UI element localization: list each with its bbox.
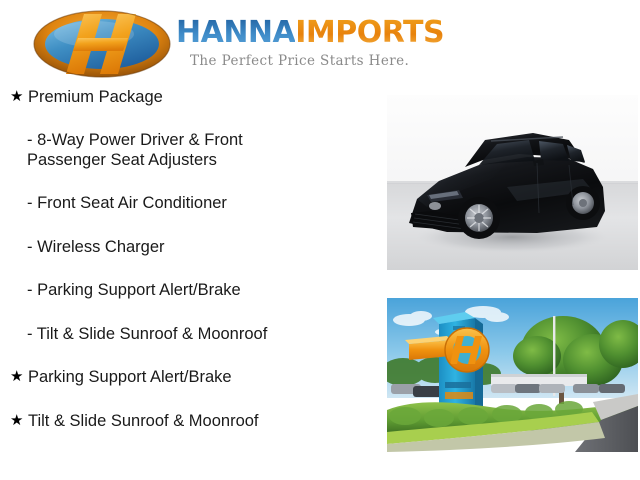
list-item: - Wireless Charger (0, 238, 370, 257)
feature-label: Premium Package (28, 88, 370, 107)
feature-label: Tilt & Slide Sunroof & Moonroof (28, 412, 370, 431)
brand-wordmark-block: HANNAIMPORTS The Perfect Price Starts He… (176, 8, 444, 69)
list-item: - Front Seat Air Conditioner (0, 194, 370, 213)
list-item: ★ Premium Package (0, 88, 370, 107)
slide-canvas: HANNAIMPORTS The Perfect Price Starts He… (0, 0, 640, 480)
list-item: - Tilt & Slide Sunroof & Moonroof (0, 325, 370, 344)
list-item: - 8-Way Power Driver & Front Passenger S… (0, 131, 370, 170)
star-bullet-icon: ★ (10, 88, 28, 107)
feature-label: - Front Seat Air Conditioner (27, 194, 370, 213)
wordmark-imports: IMPORTS (295, 15, 444, 50)
feature-label: - Parking Support Alert/Brake (27, 281, 370, 300)
hanna-oval-h-logo-icon (32, 8, 172, 80)
feature-label: Parking Support Alert/Brake (28, 368, 370, 387)
wordmark-hanna: HANNA (176, 15, 295, 50)
brand-wordmark: HANNAIMPORTS (176, 18, 444, 48)
star-bullet-icon: ★ (10, 412, 28, 431)
vehicle-photo[interactable] (387, 95, 638, 270)
feature-label: - Wireless Charger (27, 238, 370, 257)
brand-logo-block[interactable]: HANNAIMPORTS The Perfect Price Starts He… (32, 8, 444, 80)
brand-header: HANNAIMPORTS The Perfect Price Starts He… (0, 0, 640, 88)
feature-label: - 8-Way Power Driver & Front Passenger S… (27, 131, 370, 170)
feature-list: ★ Premium Package - 8-Way Power Driver &… (0, 88, 370, 455)
list-item: ★ Parking Support Alert/Brake (0, 368, 370, 387)
list-item: - Parking Support Alert/Brake (0, 281, 370, 300)
feature-label: - Tilt & Slide Sunroof & Moonroof (27, 325, 370, 344)
star-bullet-icon: ★ (10, 368, 28, 387)
brand-tagline: The Perfect Price Starts Here. (190, 53, 444, 69)
dealership-photo[interactable] (387, 298, 638, 452)
list-item: ★ Tilt & Slide Sunroof & Moonroof (0, 412, 370, 431)
